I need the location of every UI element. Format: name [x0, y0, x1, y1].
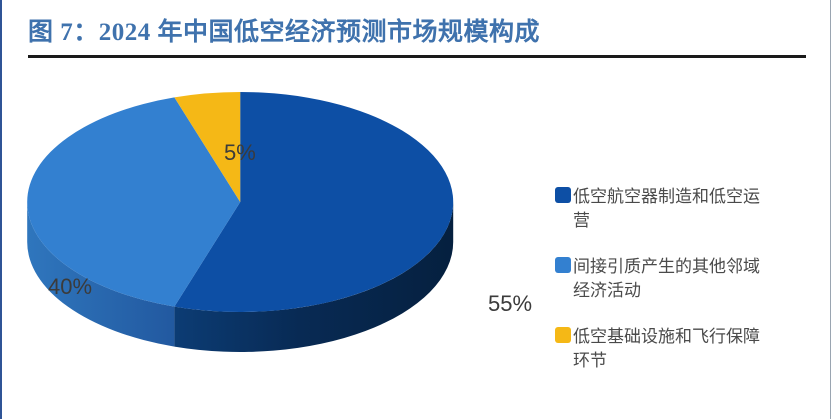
figure-container: 图 7：2024 年中国低空经济预测市场规模构成 0% — [0, 0, 831, 419]
legend-swatch-aircraft — [555, 187, 571, 203]
pie-label-indirect: 40% — [48, 274, 92, 300]
chart-legend: 低空航空器制造和低空运营 间接引质产生的其他邻域经济活动 低空基础设施和飞行保障… — [555, 185, 830, 395]
legend-swatch-indirect — [555, 257, 571, 273]
pie-chart: 0% — [2, 60, 547, 419]
legend-item-indirect[interactable]: 间接引质产生的其他邻域经济活动 — [555, 255, 830, 303]
figure-header: 图 7：2024 年中国低空经济预测市场规模构成 — [2, 0, 831, 58]
pie-label-infrastructure: 5% — [224, 140, 256, 166]
legend-label-indirect: 间接引质产生的其他邻域经济活动 — [573, 255, 765, 303]
pie-label-aircraft: 55% — [488, 291, 532, 317]
legend-item-infrastructure[interactable]: 低空基础设施和飞行保障环节 — [555, 325, 830, 373]
page-title: 图 7：2024 年中国低空经济预测市场规模构成 — [28, 12, 540, 48]
legend-label-infrastructure: 低空基础设施和飞行保障环节 — [573, 325, 765, 373]
legend-swatch-infrastructure — [555, 327, 571, 343]
legend-item-aircraft[interactable]: 低空航空器制造和低空运营 — [555, 185, 830, 233]
title-divider — [28, 55, 806, 58]
legend-label-aircraft: 低空航空器制造和低空运营 — [573, 185, 765, 233]
pie-chart-svg: 0% — [2, 60, 547, 419]
